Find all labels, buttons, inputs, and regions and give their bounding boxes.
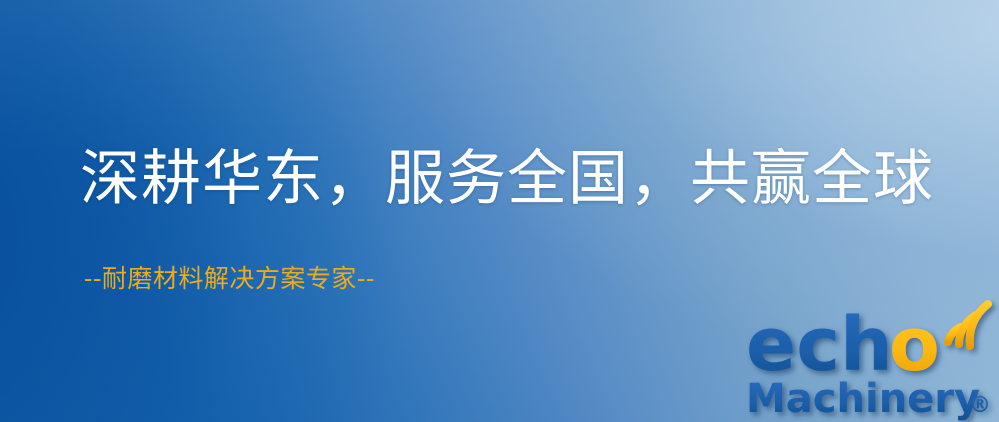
banner-subtitle: --耐磨材料解决方案专家-- — [84, 266, 375, 291]
echo-wave-arcs — [948, 304, 988, 346]
promo-banner: 深耕华东，服务全国，共赢全球 --耐磨材料解决方案专家-- — [0, 0, 999, 422]
banner-headline: 深耕华东，服务全国，共赢全球 — [80, 149, 934, 209]
logo-brand-secondary: Machinery — [746, 376, 980, 422]
logo-registered-mark: ® — [969, 393, 991, 418]
echo-machinery-logo[interactable]: ech o Machinery ® — [744, 298, 999, 422]
